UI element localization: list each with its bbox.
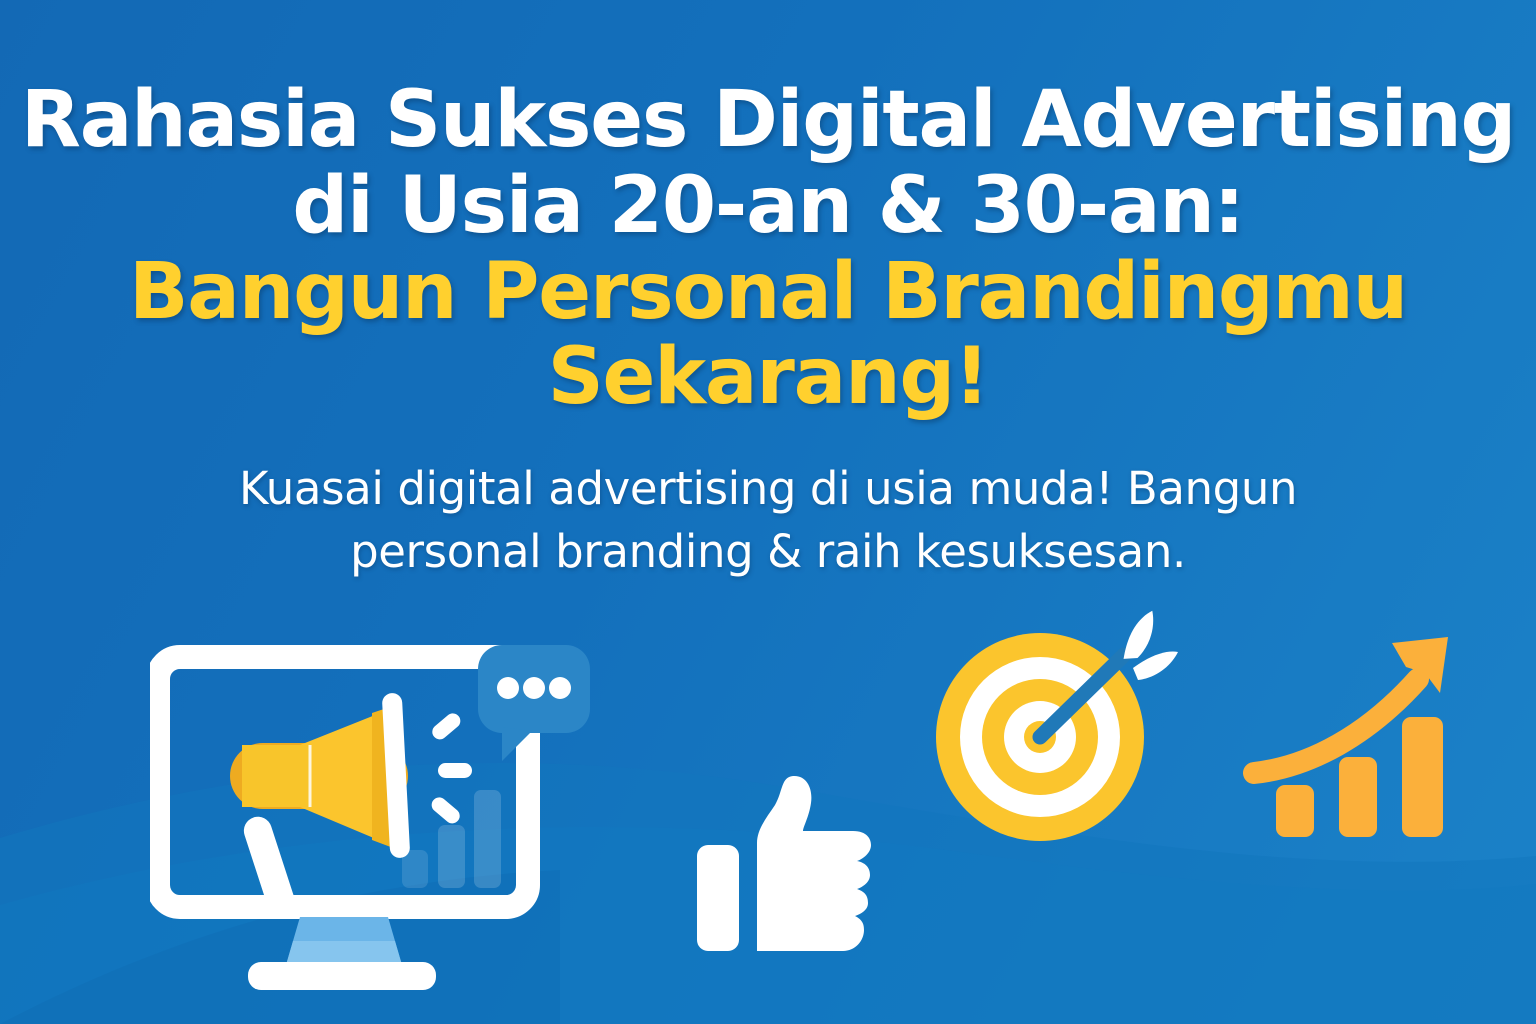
poster-text-stack: Rahasia Sukses Digital Advertising di Us… xyxy=(0,0,1536,583)
icon-row xyxy=(0,605,1536,1024)
target-dart-icon xyxy=(928,610,1178,850)
headline-line-4-accent: Sekarang! xyxy=(0,335,1536,421)
subhead-block: Kuasai digital advertising di usia muda!… xyxy=(0,421,1536,583)
headline-line-3-accent: Bangun Personal Brandingmu xyxy=(0,250,1536,336)
page-title: Rahasia Sukses Digital Advertising di Us… xyxy=(0,78,1536,421)
growth-chart-icon xyxy=(1240,617,1490,867)
subhead-line-1: Kuasai digital advertising di usia muda!… xyxy=(239,462,1297,515)
headline-block: Rahasia Sukses Digital Advertising di Us… xyxy=(0,0,1536,421)
monitor-megaphone-icon xyxy=(150,635,590,995)
subhead-line-2: personal branding & raih kesuksesan. xyxy=(350,525,1186,578)
thumbs-up-icon xyxy=(695,773,885,953)
poster-canvas: Rahasia Sukses Digital Advertising di Us… xyxy=(0,0,1536,1024)
headline-line-1: Rahasia Sukses Digital Advertising xyxy=(0,78,1536,164)
headline-line-2: di Usia 20-an & 30-an: xyxy=(0,164,1536,250)
dart-feather-lower xyxy=(1133,652,1178,680)
page-subtitle: Kuasai digital advertising di usia muda!… xyxy=(0,457,1536,583)
dart-feather-upper xyxy=(1120,611,1156,659)
